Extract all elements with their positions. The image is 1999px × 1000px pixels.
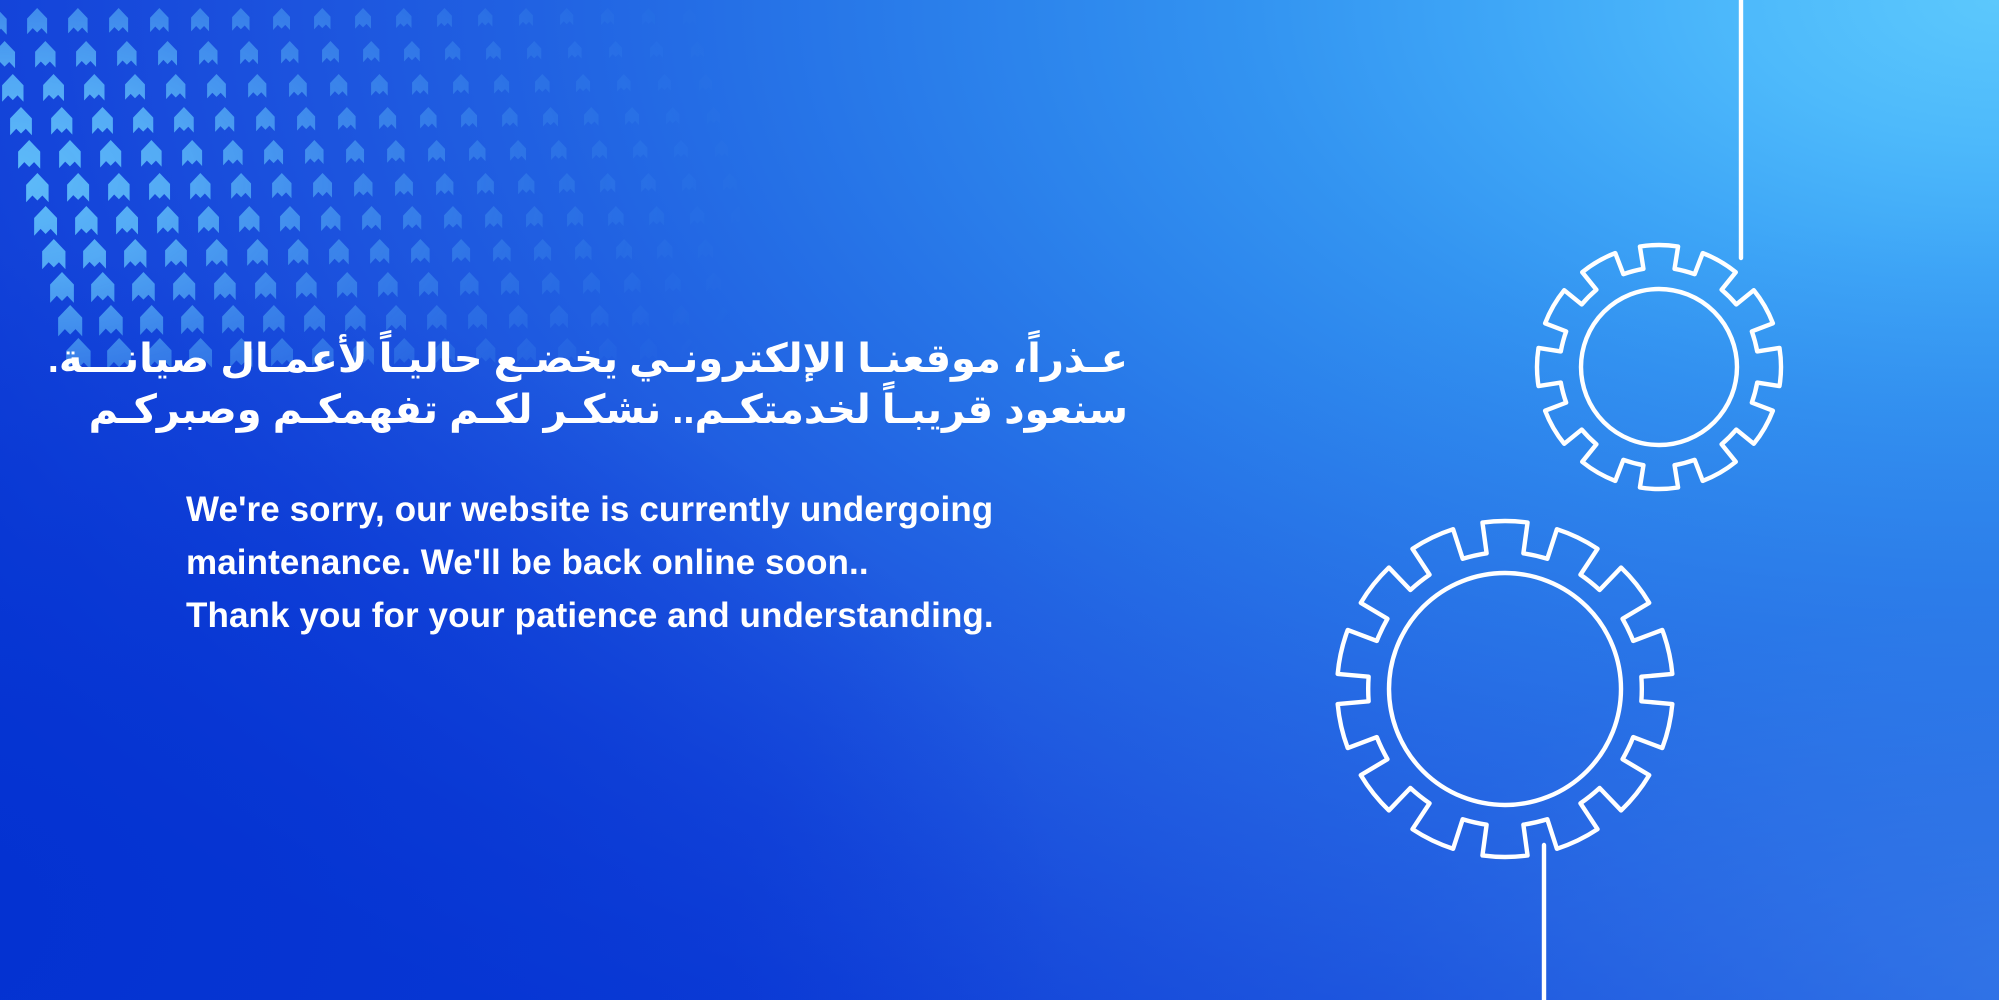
english-line-3: Thank you for your patience and understa…: [186, 589, 1128, 642]
arabic-line-1: عـذراً، موقعنـا الإلكترونـي يخضـع حاليـا…: [186, 334, 1128, 385]
english-message: We're sorry, our website is currently un…: [186, 483, 1128, 642]
arabic-line-2: سنعود قريبـاً لخدمتكـم.. نشكـر لكـم تفهم…: [186, 385, 1128, 436]
english-line-2: maintenance. We'll be back online soon..: [186, 536, 1128, 589]
maintenance-page: عـذراً، موقعنـا الإلكترونـي يخضـع حاليـا…: [0, 0, 1999, 1000]
arabic-message: عـذراً، موقعنـا الإلكترونـي يخضـع حاليـا…: [186, 334, 1128, 436]
maintenance-message: عـذراً، موقعنـا الإلكترونـي يخضـع حاليـا…: [186, 334, 1128, 642]
english-line-1: We're sorry, our website is currently un…: [186, 483, 1128, 536]
